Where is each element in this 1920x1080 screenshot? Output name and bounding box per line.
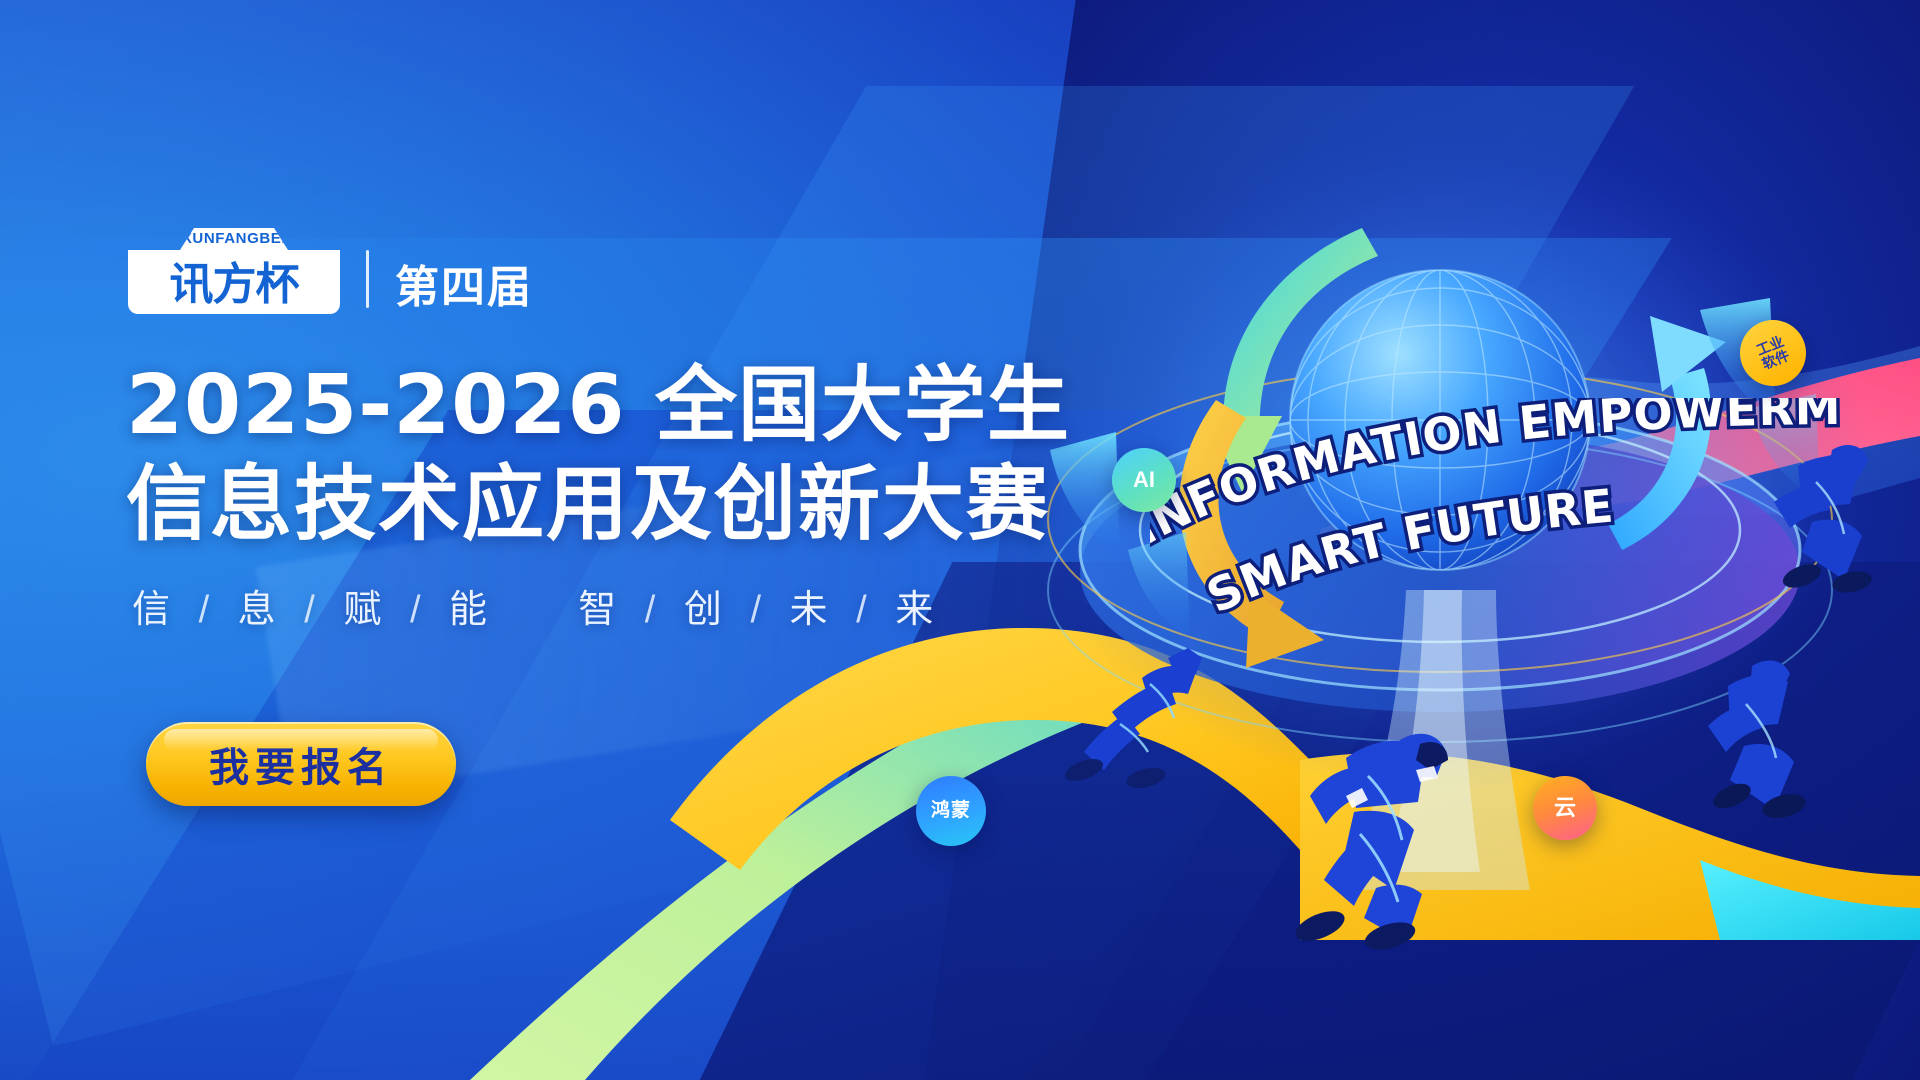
headline-block: 2025-2026 全国大学生 信息技术应用及创新大赛 — [126, 362, 1126, 549]
tag-bubble-cloud[interactable]: 云 — [1533, 776, 1597, 840]
register-button[interactable]: 我要报名 — [146, 722, 456, 806]
runner-figure-center — [1250, 700, 1530, 990]
promo-banner: INFORMATION EMPOWERMENT SMART FUTURE AI … — [0, 0, 1920, 1080]
logo-edition: 第四届 — [395, 266, 533, 310]
logo-badge[interactable]: XUNFANGBEI 讯方杯 — [128, 228, 340, 314]
slogan-right: 智 / 创 / 未 / 来 — [578, 589, 939, 631]
logo-name: 讯方杯 — [170, 263, 299, 307]
brand-lockup: XUNFANGBEI 讯方杯 第四届 — [128, 228, 533, 314]
slogan-line: 信 / 息 / 赋 / 能 智 / 创 / 未 / 来 — [132, 578, 939, 633]
tag-bubble-hongmeng[interactable]: 鸿蒙 — [916, 776, 986, 846]
tag-label-cloud: 云 — [1554, 796, 1576, 819]
strapline-graphic: INFORMATION EMPOWERMENT SMART FUTURE — [1150, 398, 1850, 658]
slogan-left: 信 / 息 / 赋 / 能 — [132, 589, 493, 631]
logo-divider — [366, 250, 369, 308]
logo-pinyin: XUNFANGBEI — [128, 230, 340, 247]
headline-line-1: 2025-2026 全国大学生 — [126, 362, 1126, 451]
tag-label-ai: AI — [1133, 468, 1155, 491]
headline-line-2: 信息技术应用及创新大赛 — [126, 461, 1126, 550]
runner-figure-bottomright — [1688, 642, 1888, 842]
tag-label-hongmeng: 鸿蒙 — [931, 801, 971, 821]
